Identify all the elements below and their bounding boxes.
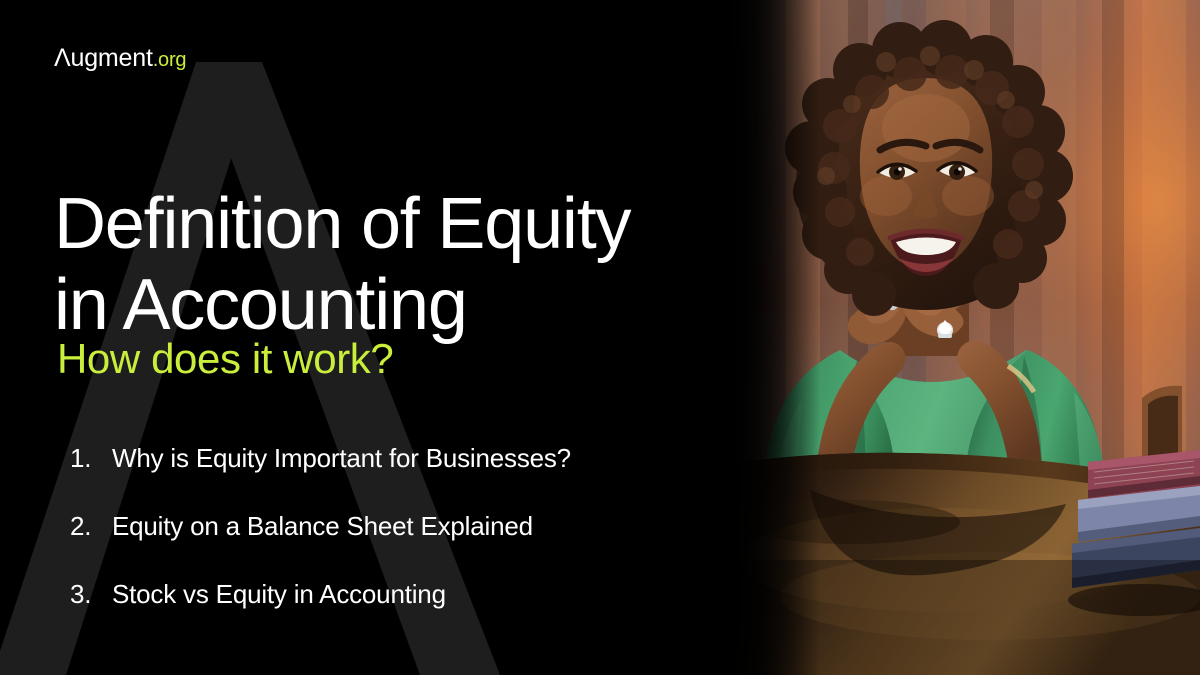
brand-logo-suffix: .org [153, 49, 187, 71]
presentation-slide: Λugment.org Definition of Equity in Acco… [0, 0, 1200, 675]
page-title-line-1: Definition of Equity [54, 184, 734, 265]
list-item-label: Why is Equity Important for Businesses? [112, 443, 710, 474]
list-item-number: 3. [70, 579, 112, 610]
list-item[interactable]: 1. Why is Equity Important for Businesse… [70, 443, 710, 474]
list-item-label: Equity on a Balance Sheet Explained [112, 511, 710, 542]
agenda-list: 1. Why is Equity Important for Businesse… [70, 443, 710, 610]
page-title-line-2: in Accounting [54, 265, 734, 346]
page-subtitle: How does it work? [57, 336, 393, 382]
list-item[interactable]: 3. Stock vs Equity in Accounting [70, 579, 710, 610]
brand-logo[interactable]: Λugment.org [54, 46, 186, 71]
list-item[interactable]: 2. Equity on a Balance Sheet Explained [70, 511, 710, 542]
list-item-label: Stock vs Equity in Accounting [112, 579, 710, 610]
page-title: Definition of Equity in Accounting [54, 184, 734, 345]
list-item-number: 2. [70, 511, 112, 542]
list-item-number: 1. [70, 443, 112, 474]
brand-logo-mark: Λugment [54, 44, 153, 72]
slide-content: Λugment.org Definition of Equity in Acco… [0, 0, 1200, 675]
